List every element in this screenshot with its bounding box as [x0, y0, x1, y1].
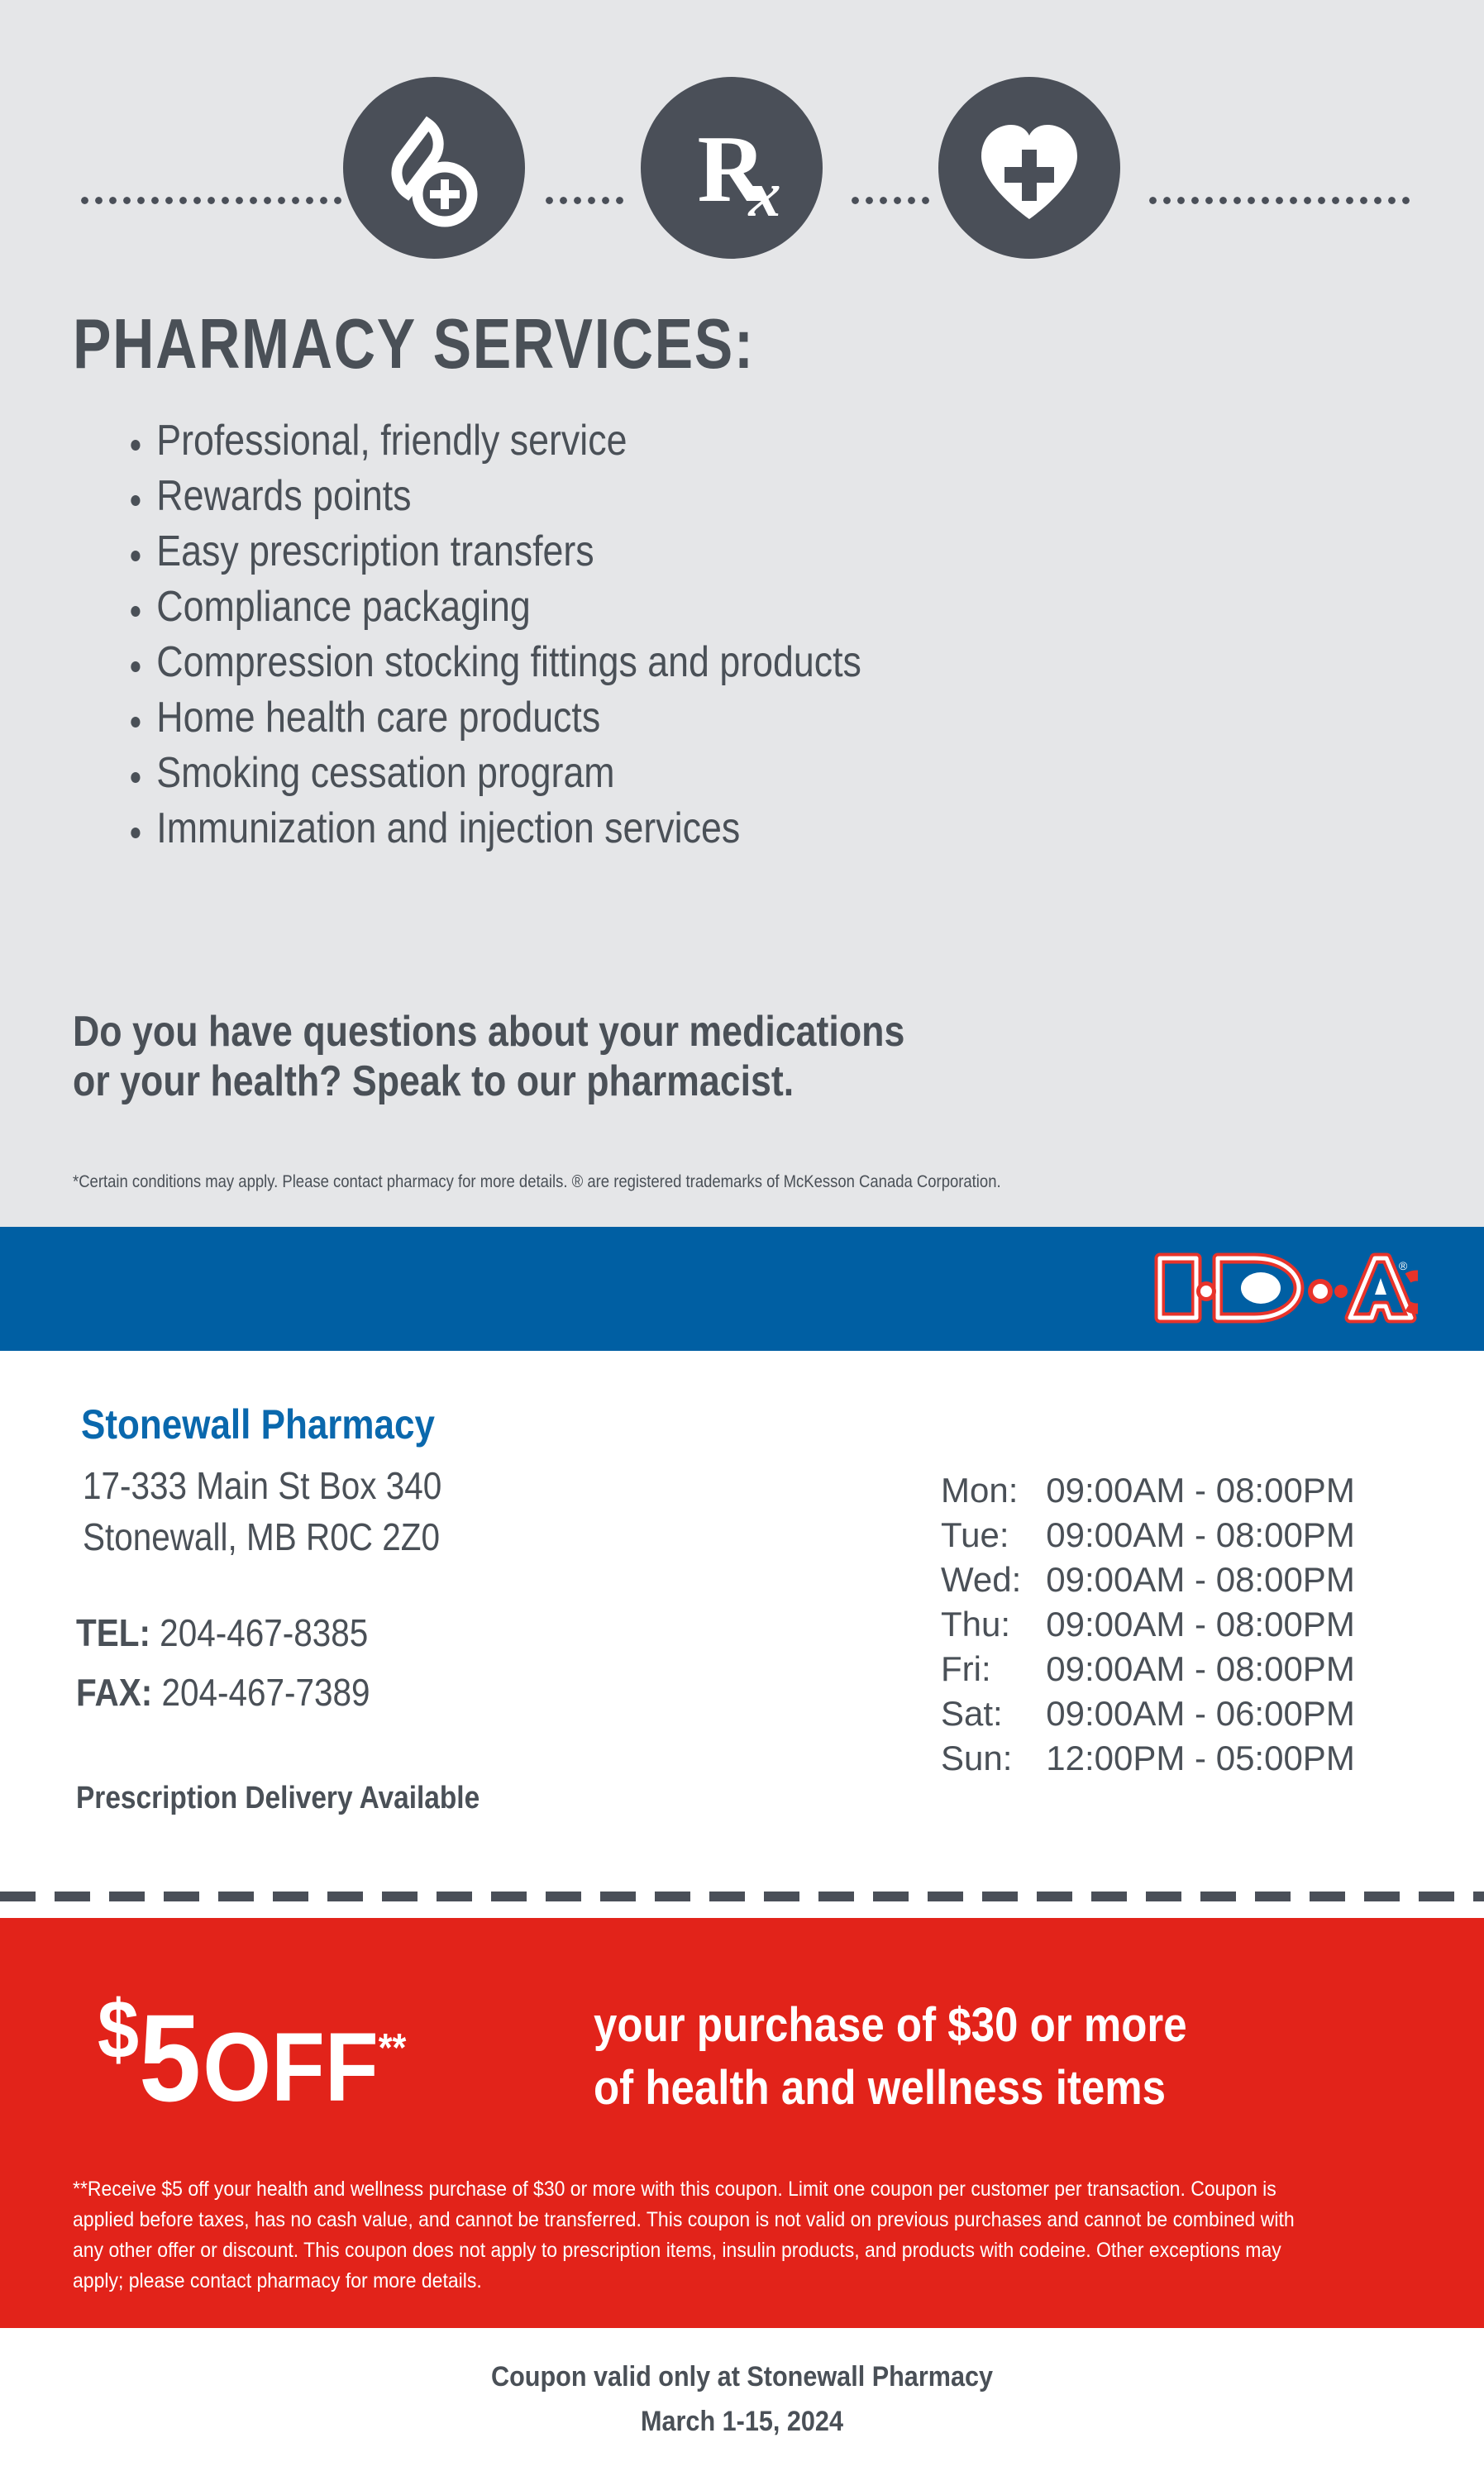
- coupon-dollar-sign: $: [98, 1983, 139, 2076]
- list-item: Smoking cessation program: [122, 746, 1118, 801]
- list-item: Compression stocking fittings and produc…: [122, 635, 1118, 690]
- coupon-value: 5: [139, 1988, 199, 2127]
- table-row: Thu: 09:00AM - 08:00PM: [941, 1602, 1355, 1647]
- hours-time: 09:00AM - 06:00PM: [1046, 1691, 1355, 1736]
- svg-text:x: x: [748, 158, 781, 230]
- hours-time: 09:00AM - 08:00PM: [1046, 1602, 1355, 1647]
- store-hours-table: Mon: 09:00AM - 08:00PM Tue: 09:00AM - 08…: [941, 1468, 1355, 1781]
- table-row: Fri: 09:00AM - 08:00PM: [941, 1647, 1355, 1691]
- table-row: Mon: 09:00AM - 08:00PM: [941, 1468, 1355, 1513]
- hours-day: Tue:: [941, 1513, 1046, 1558]
- coupon-section: $5 OFF** your purchase of $30 or more of…: [0, 1918, 1484, 2328]
- fax-value: 204-467-7389: [161, 1671, 370, 1714]
- heart-plus-icon: [938, 77, 1120, 259]
- hours-day: Sat:: [941, 1691, 1046, 1736]
- list-item: Rewards points: [122, 469, 1118, 524]
- list-item: Professional, friendly service: [122, 413, 1118, 469]
- hours-day: Wed:: [941, 1558, 1046, 1602]
- pill-capsule-plus-icon: [343, 77, 525, 259]
- hours-time: 09:00AM - 08:00PM: [1046, 1513, 1355, 1558]
- brand-band: ®: [0, 1227, 1484, 1351]
- list-item: Immunization and injection services: [122, 801, 1118, 856]
- pharmacist-question: Do you have questions about your medicat…: [73, 1007, 904, 1106]
- hours-time: 09:00AM - 08:00PM: [1046, 1468, 1355, 1513]
- dotted-rule-mid-left: [546, 197, 630, 204]
- pharmacy-flyer: R x PHARMACY SERVICES: Professional, fri…: [0, 0, 1484, 2476]
- coupon-asterisks: **: [379, 2026, 407, 2070]
- dotted-rule-mid-right: [852, 197, 936, 204]
- rx-prescription-icon: R x: [641, 77, 823, 259]
- icon-strip: R x: [0, 45, 1484, 248]
- table-row: Sat: 09:00AM - 06:00PM: [941, 1691, 1355, 1736]
- table-row: Sun: 12:00PM - 05:00PM: [941, 1736, 1355, 1781]
- coupon-desc-line-1: your purchase of $30 or more: [594, 1994, 1187, 2057]
- address-line-2: Stonewall, MB R0C 2Z0: [83, 1511, 441, 1562]
- hours-day: Thu:: [941, 1602, 1046, 1647]
- store-contact-block: Stonewall Pharmacy 17-333 Main St Box 34…: [0, 1351, 1484, 1896]
- hours-day: Sun:: [941, 1736, 1046, 1781]
- coupon-amount: $5 OFF**: [98, 1982, 406, 2130]
- table-row: Wed: 09:00AM - 08:00PM: [941, 1558, 1355, 1602]
- hours-day: Mon:: [941, 1468, 1046, 1513]
- svg-text:®: ®: [1399, 1259, 1408, 1272]
- hours-time: 09:00AM - 08:00PM: [1046, 1558, 1355, 1602]
- services-panel: R x PHARMACY SERVICES: Professional, fri…: [0, 0, 1484, 1227]
- ida-logo: ®: [1145, 1242, 1418, 1334]
- coupon-off-label: OFF: [203, 2013, 378, 2122]
- tel-label: TEL:: [76, 1611, 150, 1654]
- trademark-disclaimer: *Certain conditions may apply. Please co…: [73, 1172, 1001, 1192]
- store-address: 17-333 Main St Box 340 Stonewall, MB R0C…: [83, 1460, 441, 1562]
- list-item: Compliance packaging: [122, 580, 1118, 635]
- validity-line-1: Coupon valid only at Stonewall Pharmacy: [74, 2354, 1410, 2399]
- dotted-rule-left: [81, 197, 346, 204]
- services-list: Professional, friendly service Rewards p…: [122, 413, 1280, 856]
- coupon-fine-print: **Receive $5 off your health and wellnes…: [73, 2174, 1320, 2297]
- hours-time: 09:00AM - 08:00PM: [1046, 1647, 1355, 1691]
- list-item: Easy prescription transfers: [122, 524, 1118, 580]
- coupon-description: your purchase of $30 or more of health a…: [594, 1994, 1187, 2120]
- coupon-desc-line-2: of health and wellness items: [594, 2057, 1187, 2120]
- fax-label: FAX:: [76, 1671, 152, 1714]
- store-phone-numbers: TEL: 204-467-8385 FAX: 204-467-7389: [76, 1603, 370, 1722]
- validity-line-2: March 1-15, 2024: [74, 2399, 1410, 2444]
- hours-day: Fri:: [941, 1647, 1046, 1691]
- list-item: Home health care products: [122, 690, 1118, 746]
- store-name: Stonewall Pharmacy: [81, 1400, 435, 1448]
- coupon-cut-line: [0, 1892, 1484, 1901]
- telephone-row: TEL: 204-467-8385: [76, 1603, 370, 1663]
- tel-value[interactable]: 204-467-8385: [160, 1611, 368, 1654]
- delivery-note: Prescription Delivery Available: [76, 1781, 480, 1816]
- question-line-2: or your health? Speak to our pharmacist.: [73, 1057, 904, 1106]
- page-title: PHARMACY SERVICES:: [73, 304, 755, 385]
- coupon-validity: Coupon valid only at Stonewall Pharmacy …: [0, 2354, 1484, 2444]
- question-line-1: Do you have questions about your medicat…: [73, 1007, 904, 1057]
- hours-time: 12:00PM - 05:00PM: [1046, 1736, 1355, 1781]
- dotted-rule-right: [1149, 197, 1414, 204]
- table-row: Tue: 09:00AM - 08:00PM: [941, 1513, 1355, 1558]
- address-line-1: 17-333 Main St Box 340: [83, 1460, 441, 1511]
- fax-row: FAX: 204-467-7389: [76, 1663, 370, 1722]
